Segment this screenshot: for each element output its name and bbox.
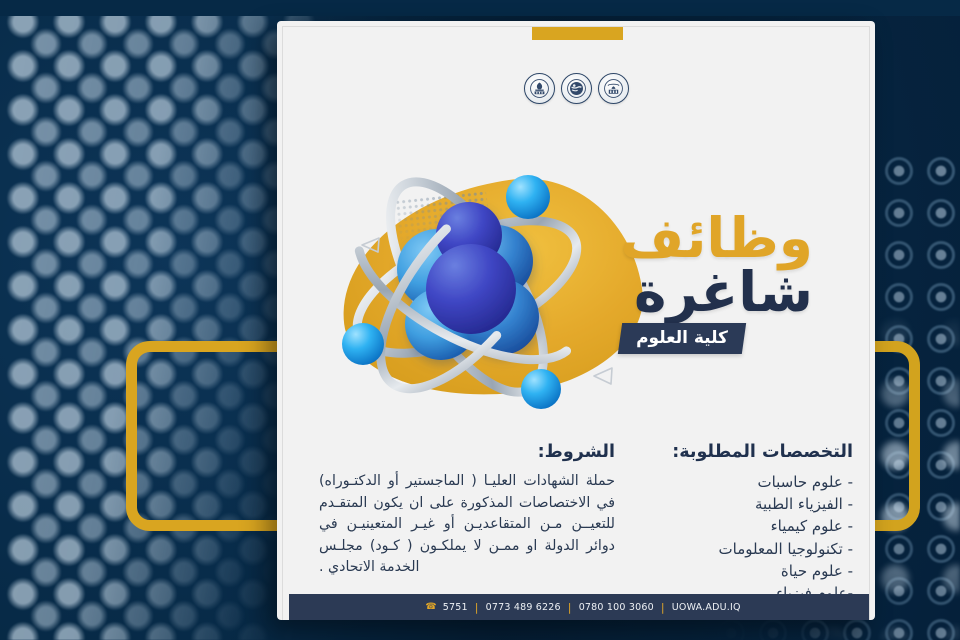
footer-separator: | <box>661 602 665 613</box>
college-name-badge-label: كلية العلوم <box>636 328 728 348</box>
specialization-item: - الفيزياء الطبية <box>625 493 853 515</box>
logo-row <box>283 73 869 104</box>
content-columns: التخصصات المطلوبة: - علوم حاسبات - الفيز… <box>283 442 870 602</box>
specialization-item: - علوم حاسبات <box>625 471 853 493</box>
specializations-title: التخصصات المطلوبة: <box>625 442 853 462</box>
headline-badge-row: كلية العلوم <box>620 323 813 354</box>
university-logo-icon <box>561 73 592 104</box>
footer-separator: | <box>568 602 572 613</box>
headline-line-2: شاغرة <box>620 266 813 320</box>
phone-icon: ☎ <box>425 603 436 612</box>
footer-separator: | <box>475 602 479 613</box>
contact-phone-short: 5751 <box>443 602 468 613</box>
conditions-title: الشروط: <box>319 442 615 462</box>
contact-website: UOWA.ADU.IQ <box>672 602 741 613</box>
contact-footer-bar: ☎ 5751 | 0773 489 6226 | 0780 100 3060 |… <box>289 594 870 620</box>
specialization-item: - علوم كيمياء <box>625 515 853 537</box>
top-accent-tab <box>532 27 623 40</box>
atom-illustration <box>319 139 619 429</box>
headline-line-1: وظائف <box>620 213 813 264</box>
college-name-badge: كلية العلوم <box>618 323 746 354</box>
specialization-item: - تكنولوجيا المعلومات <box>625 538 853 560</box>
headline-block: وظائف شاغرة كلية العلوم <box>620 213 813 354</box>
contact-footer-content: ☎ 5751 | 0773 489 6226 | 0780 100 3060 |… <box>423 602 740 613</box>
specializations-column: التخصصات المطلوبة: - علوم حاسبات - الفيز… <box>625 442 870 602</box>
conditions-body: حملة الشهادات العليـا ( الماجستير أو الد… <box>319 471 615 579</box>
contact-phone-1: 0773 489 6226 <box>486 602 561 613</box>
background-top-strip <box>0 0 960 16</box>
conditions-column: الشروط: حملة الشهادات العليـا ( الماجستي… <box>307 442 625 602</box>
college-logo-icon <box>598 73 629 104</box>
poster-card-inner: وظائف شاغرة كلية العلوم التخصصات المطلوب… <box>282 26 870 620</box>
poster-card: وظائف شاغرة كلية العلوم التخصصات المطلوب… <box>277 21 875 620</box>
poster-screenshot: وظائف شاغرة كلية العلوم التخصصات المطلوب… <box>0 0 960 640</box>
specialization-item: - علوم حياة <box>625 560 853 582</box>
ministry-logo-icon <box>524 73 555 104</box>
contact-phone-2: 0780 100 3060 <box>579 602 654 613</box>
